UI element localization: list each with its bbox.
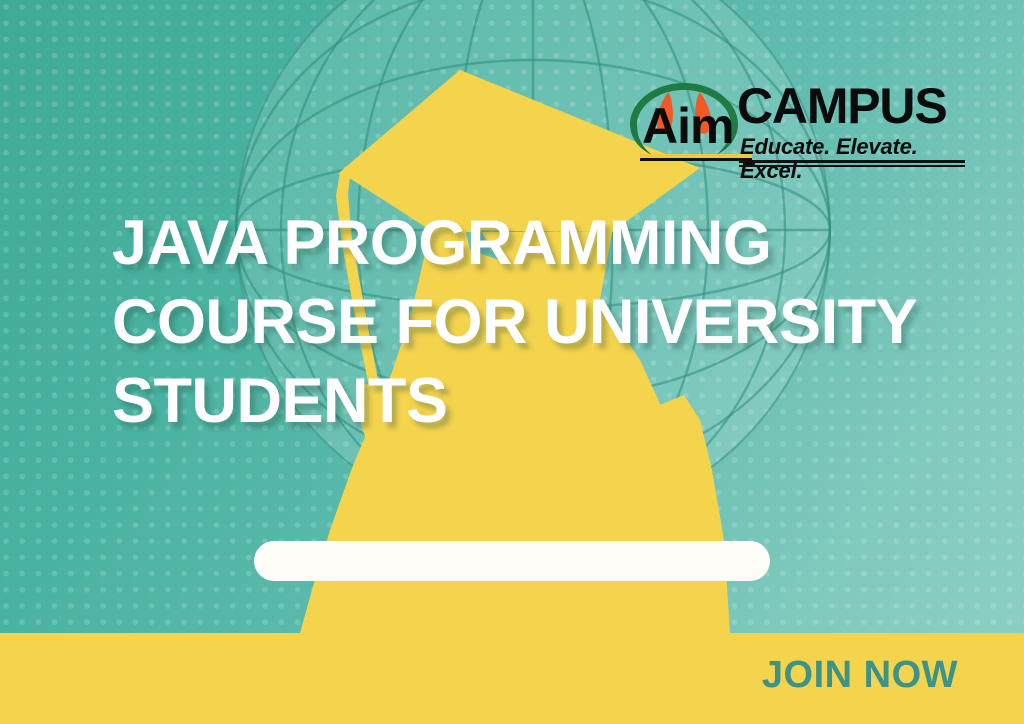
brand-logo[interactable]: Aim CAMPUS Educate. Elevate. Excel. xyxy=(623,72,959,166)
join-now-button[interactable]: JOIN NOW xyxy=(762,654,958,697)
logo-aim-text: Aim xyxy=(642,101,733,151)
poster-canvas: JAVA PROGRAMMING COURSE FOR UNIVERSITY S… xyxy=(0,0,1024,724)
headline-line-2: COURSE FOR UNIVERSITY xyxy=(112,283,972,362)
white-pill-bar[interactable] xyxy=(254,541,770,581)
logo-tagline-rule-top xyxy=(739,160,965,163)
logo-campus-text: CAMPUS xyxy=(737,81,946,131)
page-title: JAVA PROGRAMMING COURSE FOR UNIVERSITY S… xyxy=(112,204,972,441)
logo-tagline-rule-bottom xyxy=(739,165,965,167)
headline-line-3: STUDENTS xyxy=(112,362,972,441)
headline-line-1: JAVA PROGRAMMING xyxy=(112,204,972,283)
logo-tagline: Educate. Elevate. Excel. xyxy=(740,135,959,183)
logo-aim-underline-black xyxy=(640,158,752,161)
